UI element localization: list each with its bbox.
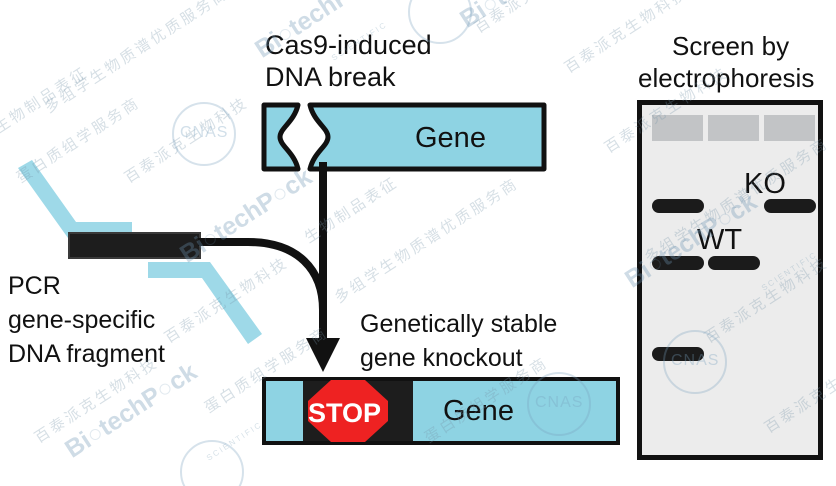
cas9-title-line1: Cas9-induced [265, 30, 432, 60]
gel-label-ko: KO [744, 168, 786, 200]
gel-image [637, 100, 823, 460]
pcr-label-line3: DNA fragment [8, 340, 165, 368]
gel-band-ko-lane3 [764, 199, 816, 213]
vertical-arrow-head [306, 338, 340, 372]
knockout-caption-line1: Genetically stable [360, 310, 557, 338]
gel-well-lane2 [708, 115, 759, 141]
gel-band-ko-lane1 [652, 199, 704, 213]
pcr-label-line2: gene-specific [8, 306, 155, 334]
gel-label-wt: WT [697, 224, 742, 256]
knockout-caption-line2: gene knockout [360, 344, 523, 372]
gel-well-lane1 [652, 115, 703, 141]
cas9-title-line2: DNA break [265, 62, 396, 92]
gene-label-bottom: Gene [443, 395, 514, 428]
stop-label: STOP [308, 398, 381, 429]
gene-label-top: Gene [415, 122, 486, 155]
gel-band-low-lane1 [652, 347, 704, 361]
gel-well-lane3 [764, 115, 815, 141]
workflow-arrows [190, 160, 420, 375]
pcr-label-line1: PCR [8, 272, 61, 300]
gel-title-line1: Screen by [672, 32, 789, 61]
gel-title-line2: electrophoresis [638, 64, 814, 93]
gel-band-wt-lane1 [652, 256, 704, 270]
primer-forward-icon [10, 160, 135, 240]
figure-canvas: Cas9-induced DNA break Gene PCR gene-spe… [0, 0, 836, 486]
gel-band-wt-lane2 [708, 256, 760, 270]
curved-connector [198, 242, 323, 310]
diagram-layer: Cas9-induced DNA break Gene PCR gene-spe… [0, 0, 836, 486]
pcr-product-bar [68, 232, 201, 259]
